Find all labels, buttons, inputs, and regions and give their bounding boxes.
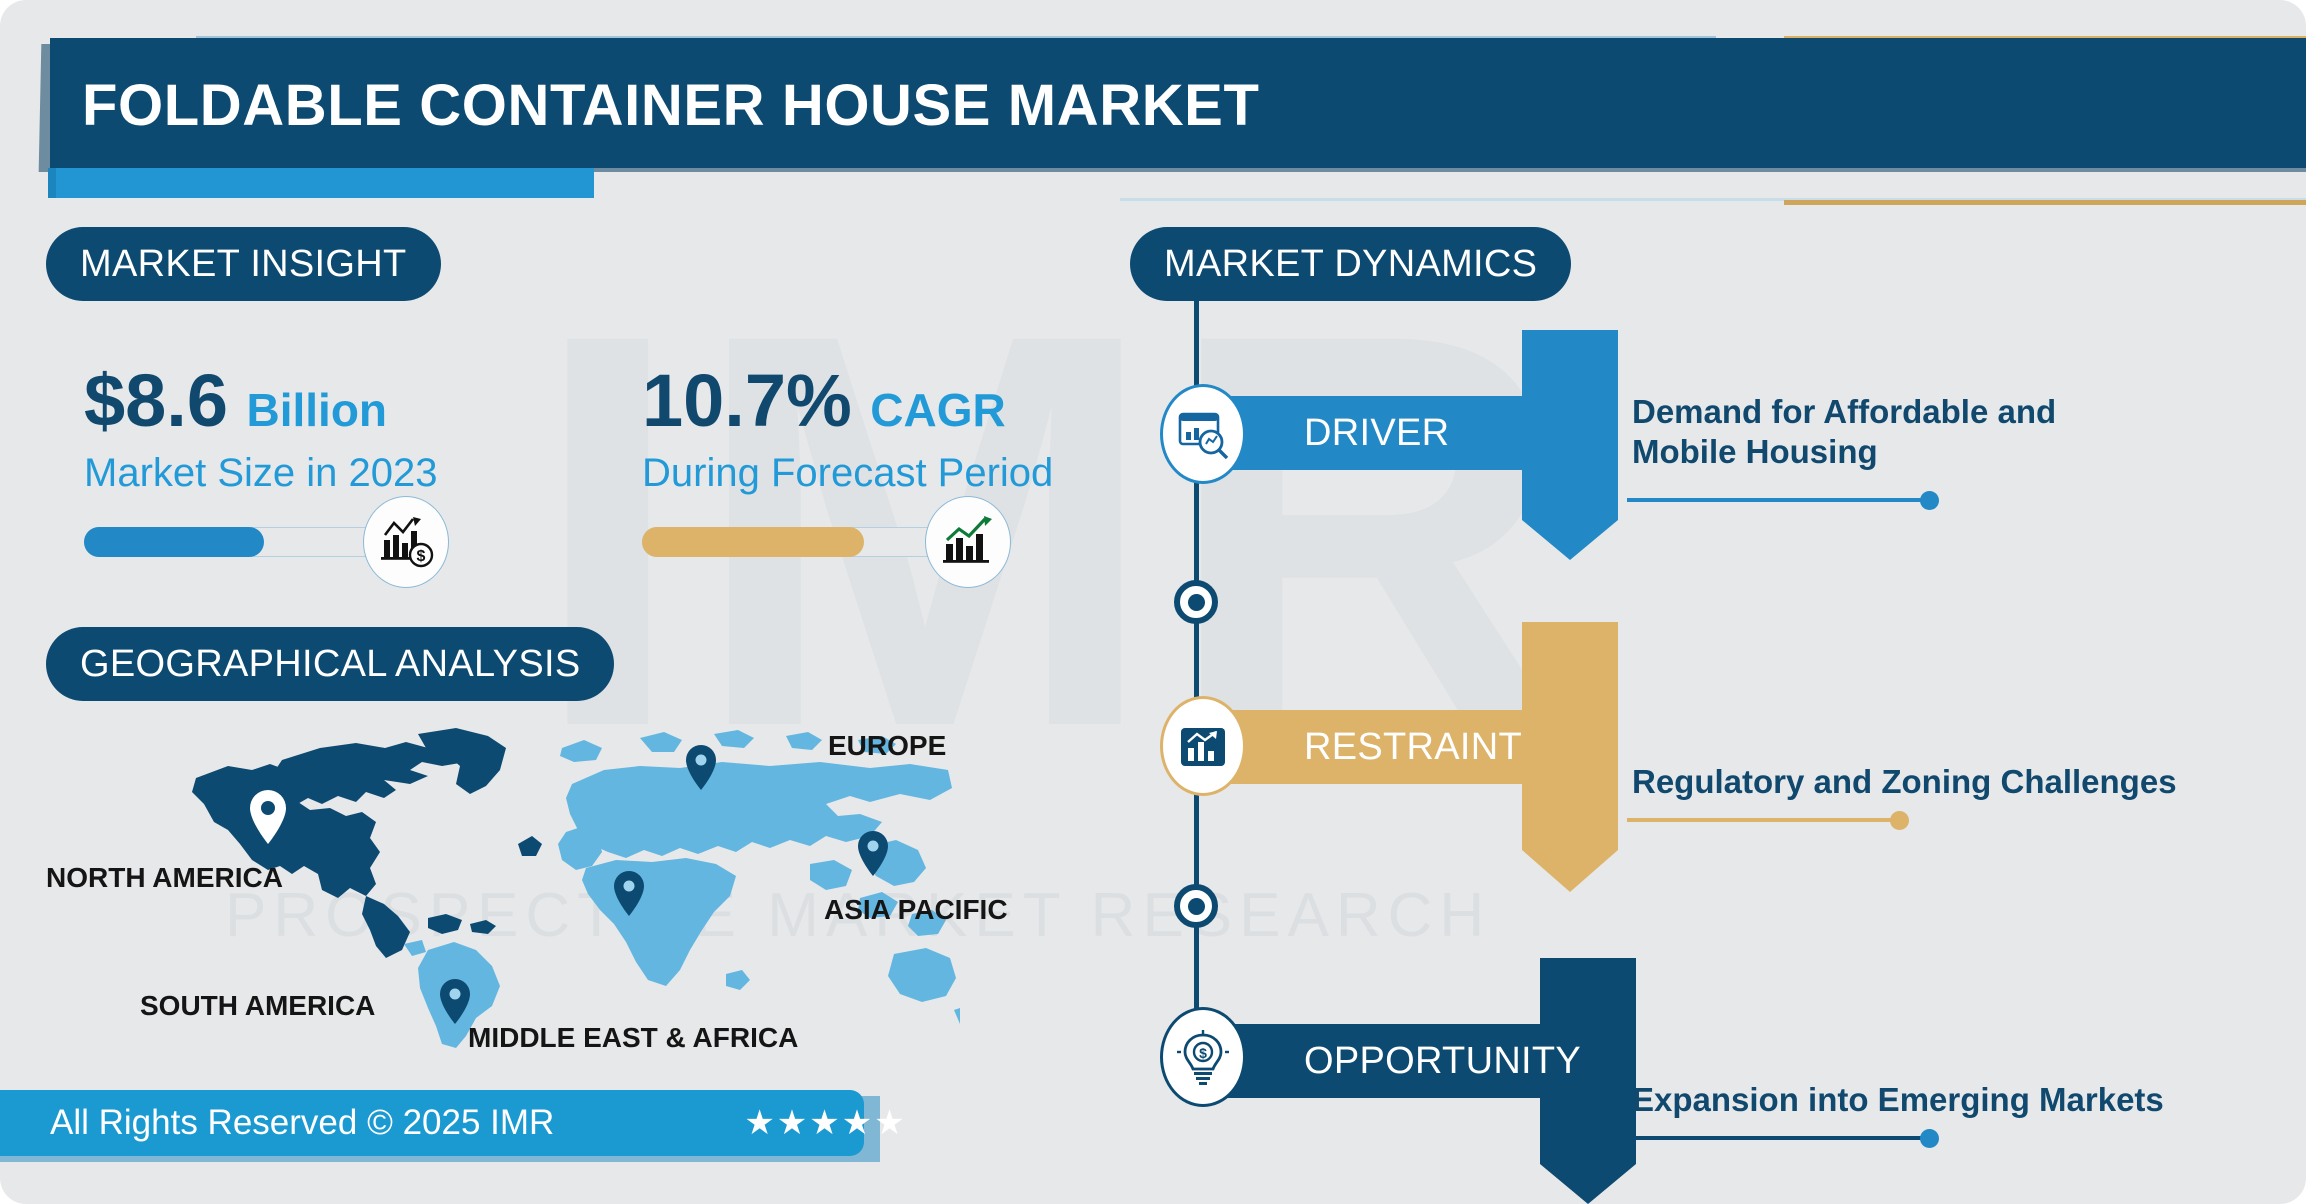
dynamics-bar-driver: DRIVER [1194, 396, 1594, 470]
dynamics-endpoint-restraint [1890, 811, 1909, 830]
dynamics-label-opportunity: OPPORTUNITY [1304, 1040, 1581, 1083]
dynamics-endpoint-opportunity [1920, 1129, 1939, 1148]
dynamics-underline-driver [1627, 498, 1927, 502]
map-label-middle-east-africa: MIDDLE EAST & AFRICA [468, 1022, 798, 1054]
section-heading-market-insight: MARKET INSIGHT [46, 227, 441, 301]
stat-unit-market-size: Billion [246, 383, 387, 437]
map-region-north-america [192, 728, 542, 958]
stat-caption-cagr: During Forecast Period [642, 451, 1053, 496]
dynamics-bar-restraint: RESTRAINT [1194, 710, 1594, 784]
map-region-australia [888, 948, 960, 1024]
declining-bar-chart-icon [1160, 696, 1246, 796]
stat-unit-cagr: CAGR [870, 383, 1005, 437]
lightbulb-dollar-icon: $ [1160, 1007, 1246, 1107]
stat-cagr: 10.7% CAGR During Forecast Period [642, 358, 1053, 496]
stat-caption-market-size: Market Size in 2023 [84, 451, 438, 496]
dynamics-underline-restraint [1627, 818, 1897, 822]
svg-text:$: $ [417, 548, 426, 565]
header-gold-accent-bottom [1784, 200, 2306, 205]
dynamics-underline-opportunity [1627, 1136, 1927, 1140]
timeline-node-2 [1174, 884, 1218, 928]
stat-market-size: $8.6 Billion Market Size in 2023 [84, 358, 438, 496]
dynamics-label-driver: DRIVER [1304, 412, 1449, 455]
rating-stars: ★★★★★ [744, 1103, 906, 1143]
map-label-asia-pacific: ASIA PACIFIC [824, 894, 1008, 926]
stat-value-market-size: $8.6 [84, 358, 228, 443]
progress-fill-market-size [84, 527, 264, 557]
dynamics-bar-opportunity: OPPORTUNITY [1194, 1024, 1594, 1098]
svg-text:$: $ [1199, 1045, 1207, 1061]
dynamics-label-restraint: RESTRAINT [1304, 726, 1522, 769]
map-region-africa [582, 858, 750, 990]
map-label-south-america: SOUTH AMERICA [140, 990, 375, 1022]
copyright-text: All Rights Reserved © 2025 IMR [50, 1103, 554, 1143]
dynamics-text-driver: Demand for Affordable and Mobile Housing [1632, 392, 2056, 473]
infographic-canvas: IMR PROSPECTIVE MARKET RESEARCH FOLDABLE… [0, 0, 2306, 1204]
footer-bar: All Rights Reserved © 2025 IMR ★★★★★ [0, 1090, 864, 1156]
dynamics-text-restraint: Regulatory and Zoning Challenges [1632, 762, 2177, 802]
market-research-magnifier-icon [1160, 384, 1246, 484]
progress-fill-cagr [642, 527, 864, 557]
dynamics-endpoint-driver [1920, 491, 1939, 510]
section-heading-geographical-analysis: GEOGRAPHICAL ANALYSIS [46, 627, 614, 701]
map-label-europe: EUROPE [828, 730, 946, 762]
map-label-north-america: NORTH AMERICA [46, 862, 283, 894]
section-heading-market-dynamics: MARKET DYNAMICS [1130, 227, 1571, 301]
bar-chart-dollar-icon: $ [363, 496, 449, 588]
header-blue-accent [56, 168, 594, 198]
dynamics-text-opportunity: Expansion into Emerging Markets [1632, 1080, 2164, 1120]
timeline-node-1 [1174, 580, 1218, 624]
trending-up-chart-icon [925, 496, 1011, 588]
page-title: FOLDABLE CONTAINER HOUSE MARKET [82, 72, 1260, 139]
stat-value-cagr: 10.7% [642, 358, 852, 443]
